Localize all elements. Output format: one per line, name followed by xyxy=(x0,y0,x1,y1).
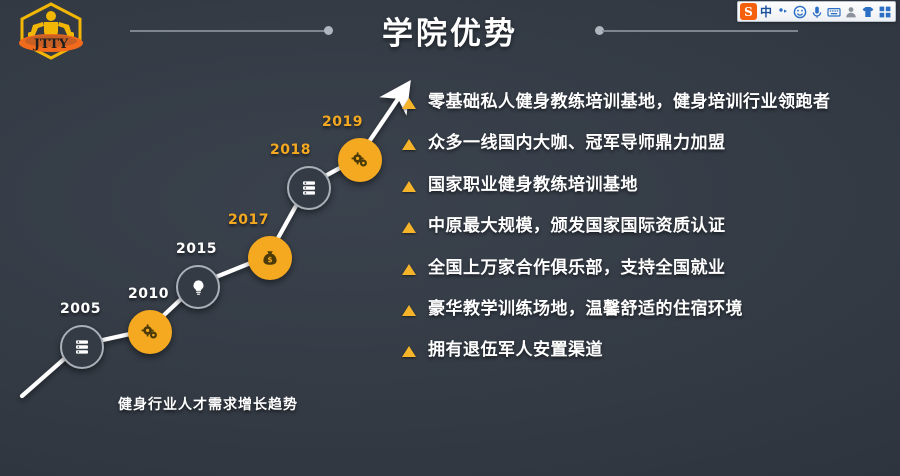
timeline-node-2019[interactable] xyxy=(338,138,382,182)
timeline-year-2017: 2017 xyxy=(228,212,269,228)
sogou-ime-toolbar[interactable]: S 中 xyxy=(737,1,896,22)
list-item-label: 拥有退伍军人安置渠道 xyxy=(428,340,603,360)
triangle-bullet-icon xyxy=(402,346,416,357)
triangle-bullet-icon xyxy=(402,264,416,275)
growth-timeline-chart: 2005 2010 xyxy=(0,60,430,420)
presentation-slide: JTTY 学院优势 S 中 xyxy=(0,0,900,476)
timeline-year-2005: 2005 xyxy=(60,301,101,317)
voice-input-icon[interactable] xyxy=(809,4,825,20)
triangle-bullet-icon xyxy=(402,305,416,316)
list-item-label: 零基础私人健身教练培训基地，健身培训行业领跑者 xyxy=(428,92,831,112)
list-item-label: 全国上万家合作俱乐部，支持全国就业 xyxy=(428,258,726,278)
timeline-year-2015: 2015 xyxy=(176,241,217,257)
list-item[interactable]: 零基础私人健身教练培训基地，健身培训行业领跑者 xyxy=(402,92,900,112)
list-item[interactable]: 国家职业健身教练培训基地 xyxy=(402,175,900,195)
triangle-bullet-icon xyxy=(402,139,416,150)
chinese-mode-icon[interactable]: 中 xyxy=(758,4,774,20)
server-stack-icon xyxy=(73,338,91,356)
timeline-arrow-path xyxy=(0,60,430,420)
gears-icon xyxy=(141,323,160,342)
timeline-year-2010: 2010 xyxy=(128,286,169,302)
sogou-logo-icon[interactable]: S xyxy=(740,3,757,20)
svg-text:$: $ xyxy=(267,255,272,264)
triangle-bullet-icon xyxy=(402,222,416,233)
advantages-list: 零基础私人健身教练培训基地，健身培训行业领跑者 众多一线国内大咖、冠军导师鼎力加… xyxy=(402,92,900,382)
money-bag-icon: $ xyxy=(261,249,279,267)
list-item[interactable]: 众多一线国内大咖、冠军导师鼎力加盟 xyxy=(402,133,900,153)
toolbox-icon[interactable] xyxy=(877,4,893,20)
soft-keyboard-icon[interactable] xyxy=(826,4,842,20)
timeline-caption: 健身行业人才需求增长趋势 xyxy=(118,394,298,414)
list-item[interactable]: 全国上万家合作俱乐部，支持全国就业 xyxy=(402,258,900,278)
timeline-year-2018: 2018 xyxy=(270,142,311,158)
list-item[interactable]: 拥有退伍军人安置渠道 xyxy=(402,340,900,360)
list-item-label: 国家职业健身教练培训基地 xyxy=(428,175,638,195)
timeline-node-2017[interactable]: $ xyxy=(248,236,292,280)
list-item-label: 众多一线国内大咖、冠军导师鼎力加盟 xyxy=(428,133,726,153)
server-stack-icon xyxy=(300,179,318,197)
timeline-node-2005[interactable] xyxy=(60,325,104,369)
list-item[interactable]: 中原最大规模，颁发国家国际资质认证 xyxy=(402,216,900,236)
triangle-bullet-icon xyxy=(402,98,416,109)
list-item-label: 豪华教学训练场地，温馨舒适的住宿环境 xyxy=(428,299,743,319)
timeline-node-2018[interactable] xyxy=(287,166,331,210)
timeline-node-2010[interactable] xyxy=(128,310,172,354)
gears-icon xyxy=(351,151,370,170)
skin-theme-icon[interactable] xyxy=(860,4,876,20)
triangle-bullet-icon xyxy=(402,181,416,192)
title-rule-right xyxy=(602,30,798,32)
timeline-year-2019: 2019 xyxy=(322,114,363,130)
lightbulb-icon xyxy=(190,279,207,296)
timeline-node-2015[interactable] xyxy=(176,265,220,309)
list-item-label: 中原最大规模，颁发国家国际资质认证 xyxy=(428,216,726,236)
punctuation-mode-icon[interactable] xyxy=(775,4,791,20)
list-item[interactable]: 豪华教学训练场地，温馨舒适的住宿环境 xyxy=(402,299,900,319)
emoji-icon[interactable] xyxy=(792,4,808,20)
user-account-icon[interactable] xyxy=(843,4,859,20)
